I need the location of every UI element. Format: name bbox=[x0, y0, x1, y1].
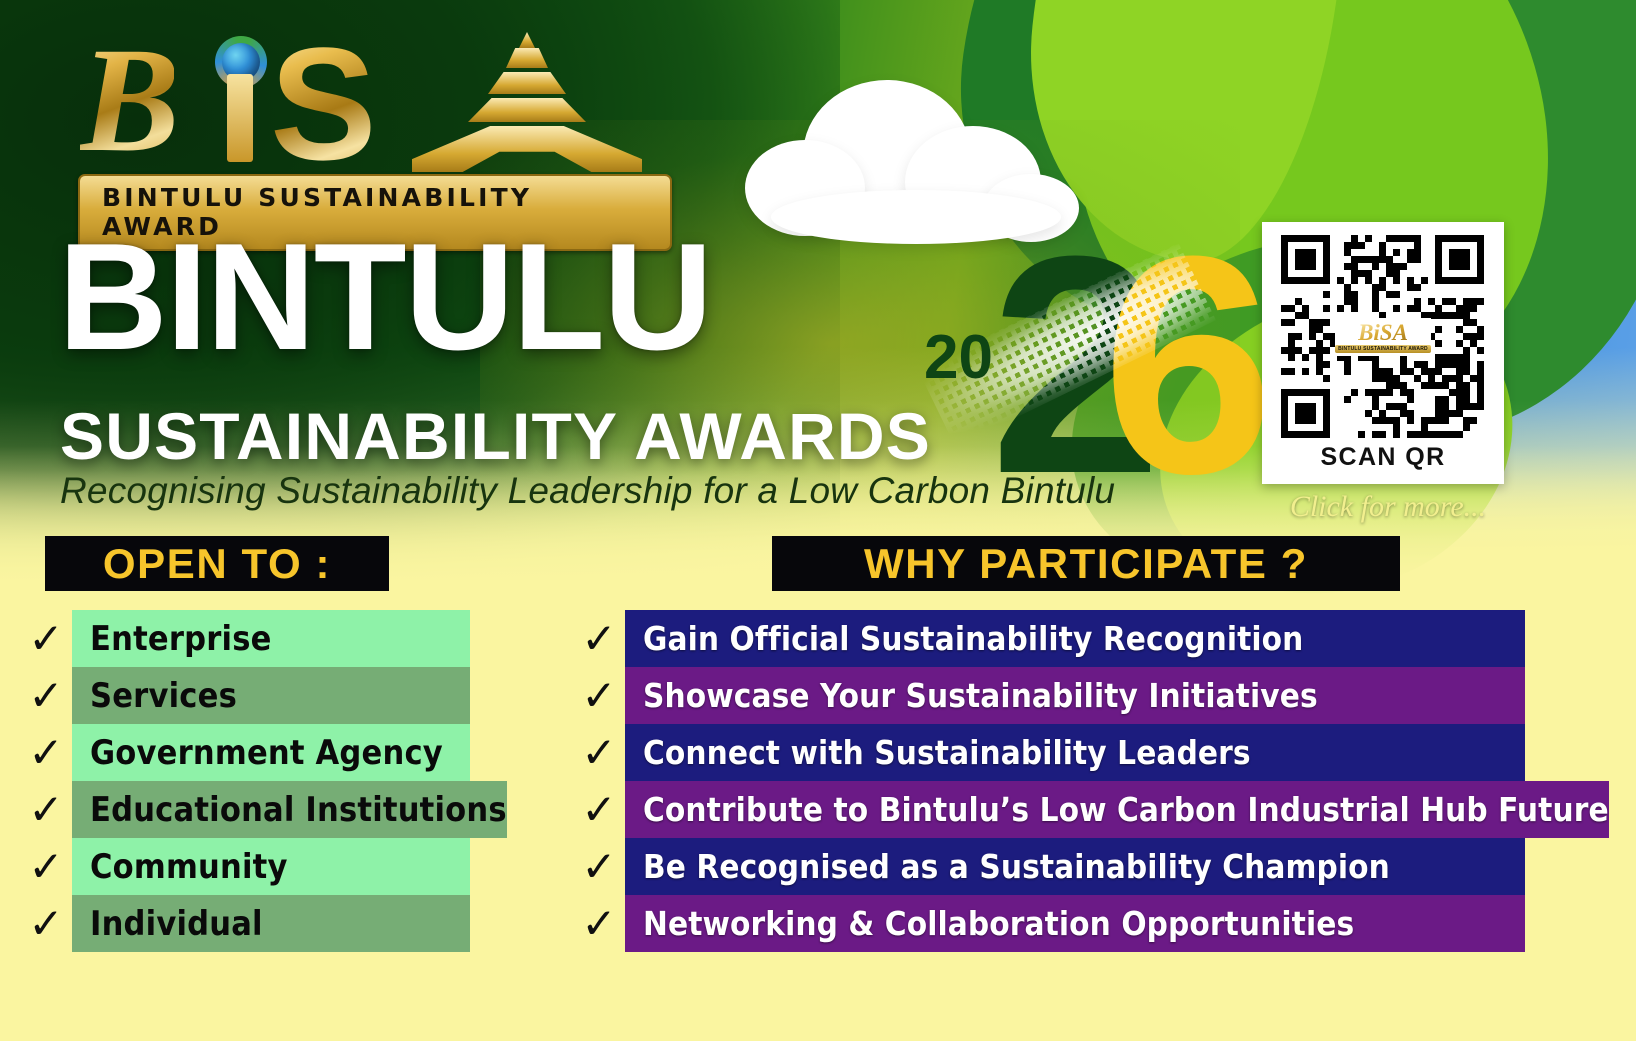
why-participate-list: ✓Gain Official Sustainability Recognitio… bbox=[573, 610, 1525, 952]
open-to-item-label: Enterprise bbox=[90, 619, 272, 659]
check-icon: ✓ bbox=[573, 610, 625, 667]
why-participate-item[interactable]: ✓Showcase Your Sustainability Initiative… bbox=[573, 667, 1525, 724]
why-participate-item[interactable]: ✓Be Recognised as a Sustainability Champ… bbox=[573, 838, 1525, 895]
why-participate-item-label: Networking & Collaboration Opportunities bbox=[643, 904, 1354, 943]
qr-logo-ribbon: BINTULU SUSTAINABILITY AWARD bbox=[1335, 345, 1431, 353]
open-to-item-label: Community bbox=[90, 847, 288, 887]
year-prefix: 20 bbox=[924, 322, 993, 393]
open-to-item-bar: Individual bbox=[72, 895, 470, 952]
section-header-open-to-label: OPEN TO : bbox=[103, 540, 331, 588]
tower-icon bbox=[412, 32, 642, 172]
check-icon: ✓ bbox=[573, 895, 625, 952]
year-digit-6: 6 bbox=[1102, 210, 1274, 520]
open-to-item-label: Government Agency bbox=[90, 733, 443, 773]
qr-click-for-more[interactable]: Click for more... bbox=[1262, 490, 1514, 524]
check-icon: ✓ bbox=[20, 838, 72, 895]
why-participate-item[interactable]: ✓Connect with Sustainability Leaders bbox=[573, 724, 1525, 781]
open-to-item[interactable]: ✓Educational Institutions bbox=[20, 781, 470, 838]
logo-letter-i-stem bbox=[227, 74, 253, 162]
check-icon: ✓ bbox=[20, 667, 72, 724]
why-participate-item-label: Be Recognised as a Sustainability Champi… bbox=[643, 847, 1390, 886]
why-participate-item-bar: Showcase Your Sustainability Initiatives bbox=[625, 667, 1525, 724]
open-to-item[interactable]: ✓Government Agency bbox=[20, 724, 470, 781]
check-icon: ✓ bbox=[573, 667, 625, 724]
open-to-item[interactable]: ✓Services bbox=[20, 667, 470, 724]
check-icon: ✓ bbox=[20, 895, 72, 952]
why-participate-item-label: Showcase Your Sustainability Initiatives bbox=[643, 676, 1318, 715]
open-to-item-label: Services bbox=[90, 676, 237, 716]
check-icon: ✓ bbox=[573, 724, 625, 781]
section-header-open-to: OPEN TO : bbox=[45, 536, 389, 591]
why-participate-item[interactable]: ✓Networking & Collaboration Opportunitie… bbox=[573, 895, 1525, 952]
why-participate-item-label: Connect with Sustainability Leaders bbox=[643, 733, 1251, 772]
why-participate-item[interactable]: ✓Gain Official Sustainability Recognitio… bbox=[573, 610, 1525, 667]
bisa-logo: B S BINTULU SUSTAINABILITY AWARD bbox=[72, 22, 672, 217]
section-header-why-participate: WHY PARTICIPATE ? bbox=[772, 536, 1400, 591]
open-to-item-bar: Educational Institutions bbox=[72, 781, 507, 838]
check-icon: ✓ bbox=[20, 610, 72, 667]
qr-caption: SCAN QR bbox=[1274, 443, 1492, 472]
why-participate-item-bar: Contribute to Bintulu’s Low Carbon Indus… bbox=[625, 781, 1609, 838]
page-subtitle: SUSTAINABILITY AWARDS bbox=[60, 398, 931, 474]
check-icon: ✓ bbox=[573, 838, 625, 895]
open-to-item[interactable]: ✓Individual bbox=[20, 895, 470, 952]
open-to-item-bar: Government Agency bbox=[72, 724, 470, 781]
why-participate-item-label: Contribute to Bintulu’s Low Carbon Indus… bbox=[643, 790, 1609, 829]
check-icon: ✓ bbox=[573, 781, 625, 838]
qr-logo-mark: BiSA bbox=[1358, 321, 1408, 344]
open-to-item[interactable]: ✓Enterprise bbox=[20, 610, 470, 667]
check-icon: ✓ bbox=[20, 781, 72, 838]
check-icon: ✓ bbox=[20, 724, 72, 781]
why-participate-item-label: Gain Official Sustainability Recognition bbox=[643, 619, 1303, 658]
logo-letter-s: S bbox=[270, 12, 377, 196]
open-to-item[interactable]: ✓Community bbox=[20, 838, 470, 895]
bisa-logo-mark: B S bbox=[72, 22, 672, 172]
open-to-item-bar: Enterprise bbox=[72, 610, 470, 667]
qr-embedded-logo: BiSA BINTULU SUSTAINABILITY AWARD bbox=[1335, 318, 1431, 356]
open-to-list: ✓Enterprise✓Services✓Government Agency✓E… bbox=[20, 610, 470, 952]
why-participate-item-bar: Be Recognised as a Sustainability Champi… bbox=[625, 838, 1525, 895]
why-participate-item-bar: Connect with Sustainability Leaders bbox=[625, 724, 1525, 781]
open-to-item-bar: Community bbox=[72, 838, 470, 895]
why-participate-item-bar: Networking & Collaboration Opportunities bbox=[625, 895, 1525, 952]
section-header-why-participate-label: WHY PARTICIPATE ? bbox=[864, 540, 1308, 588]
poster-canvas: B S BINTULU SUSTAINABILITY AWARD BINTULU… bbox=[0, 0, 1636, 1041]
open-to-item-bar: Services bbox=[72, 667, 470, 724]
open-to-item-label: Individual bbox=[90, 904, 263, 944]
why-participate-item[interactable]: ✓Contribute to Bintulu’s Low Carbon Indu… bbox=[573, 781, 1525, 838]
logo-letter-b: B bbox=[80, 14, 174, 186]
year-graphic: 2 6 20 bbox=[912, 236, 1222, 501]
why-participate-item-bar: Gain Official Sustainability Recognition bbox=[625, 610, 1525, 667]
open-to-item-label: Educational Institutions bbox=[90, 790, 507, 830]
page-title: BINTULU bbox=[58, 228, 711, 368]
qr-code-card[interactable]: BiSA BINTULU SUSTAINABILITY AWARD SCAN Q… bbox=[1262, 222, 1504, 484]
qr-code-matrix[interactable]: BiSA BINTULU SUSTAINABILITY AWARD bbox=[1274, 234, 1492, 440]
